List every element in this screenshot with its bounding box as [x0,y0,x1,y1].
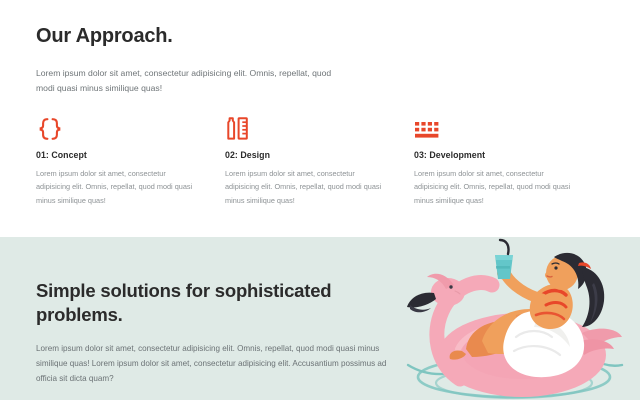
pen-and-ruler-icon [225,113,390,141]
page-title: Our Approach. [36,0,604,48]
solutions-heading: Simple solutions for sophisticated probl… [36,279,351,328]
approach-intro-text: Lorem ipsum dolor sit amet, consectetur … [36,48,336,96]
feature-column-concept: 01: Concept Lorem ipsum dolor sit amet, … [36,113,225,207]
page-root: Our Approach. Lorem ipsum dolor sit amet… [0,0,640,400]
approach-columns: 01: Concept Lorem ipsum dolor sit amet, … [36,113,604,207]
feature-column-development: 03: Development Lorem ipsum dolor sit am… [414,113,603,207]
woman-on-flamingo-float-illustration [396,237,634,400]
solutions-body-text: Lorem ipsum dolor sit amet, consectetur … [36,328,394,387]
feature-column-title: 02: Design [225,141,390,160]
feature-column-body: Lorem ipsum dolor sit amet, consectetur … [36,160,201,207]
solutions-section: Simple solutions for sophisticated probl… [0,237,640,400]
feature-column-title: 01: Concept [36,141,201,160]
curly-braces-icon [36,113,201,141]
approach-section: Our Approach. Lorem ipsum dolor sit amet… [0,0,640,237]
feature-column-design: 02: Design Lorem ipsum dolor sit amet, c… [225,113,414,207]
feature-column-body: Lorem ipsum dolor sit amet, consectetur … [414,160,579,207]
keyboard-icon [414,113,579,141]
solutions-text-block: Simple solutions for sophisticated probl… [36,279,396,387]
feature-column-body: Lorem ipsum dolor sit amet, consectetur … [225,160,390,207]
feature-column-title: 03: Development [414,141,579,160]
